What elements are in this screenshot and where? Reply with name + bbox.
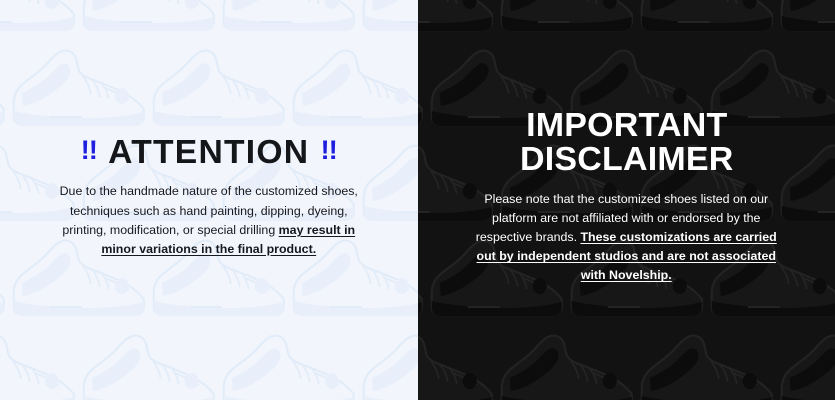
exclamation-right-icon: !! [321, 137, 337, 164]
exclamation-left-icon: !! [81, 137, 97, 164]
disclaimer-heading-line1: IMPORTANT [438, 108, 814, 142]
attention-body: Due to the handmade nature of the custom… [26, 182, 392, 259]
disclaimer-heading: IMPORTANT DISCLAIMER [438, 108, 814, 175]
disclaimer-banner: !! ATTENTION !! Due to the handmade natu… [0, 0, 835, 400]
attention-panel: !! ATTENTION !! Due to the handmade natu… [0, 0, 418, 400]
attention-content: !! ATTENTION !! Due to the handmade natu… [0, 135, 418, 260]
attention-heading: !! ATTENTION !! [22, 135, 395, 169]
attention-heading-text: ATTENTION [108, 135, 309, 169]
disclaimer-heading-line2: DISCLAIMER [438, 142, 814, 176]
disclaimer-content: IMPORTANT DISCLAIMER Please note that th… [418, 108, 835, 285]
disclaimer-body: Please note that the customized shoes li… [444, 190, 810, 286]
disclaimer-panel: IMPORTANT DISCLAIMER Please note that th… [418, 0, 835, 400]
